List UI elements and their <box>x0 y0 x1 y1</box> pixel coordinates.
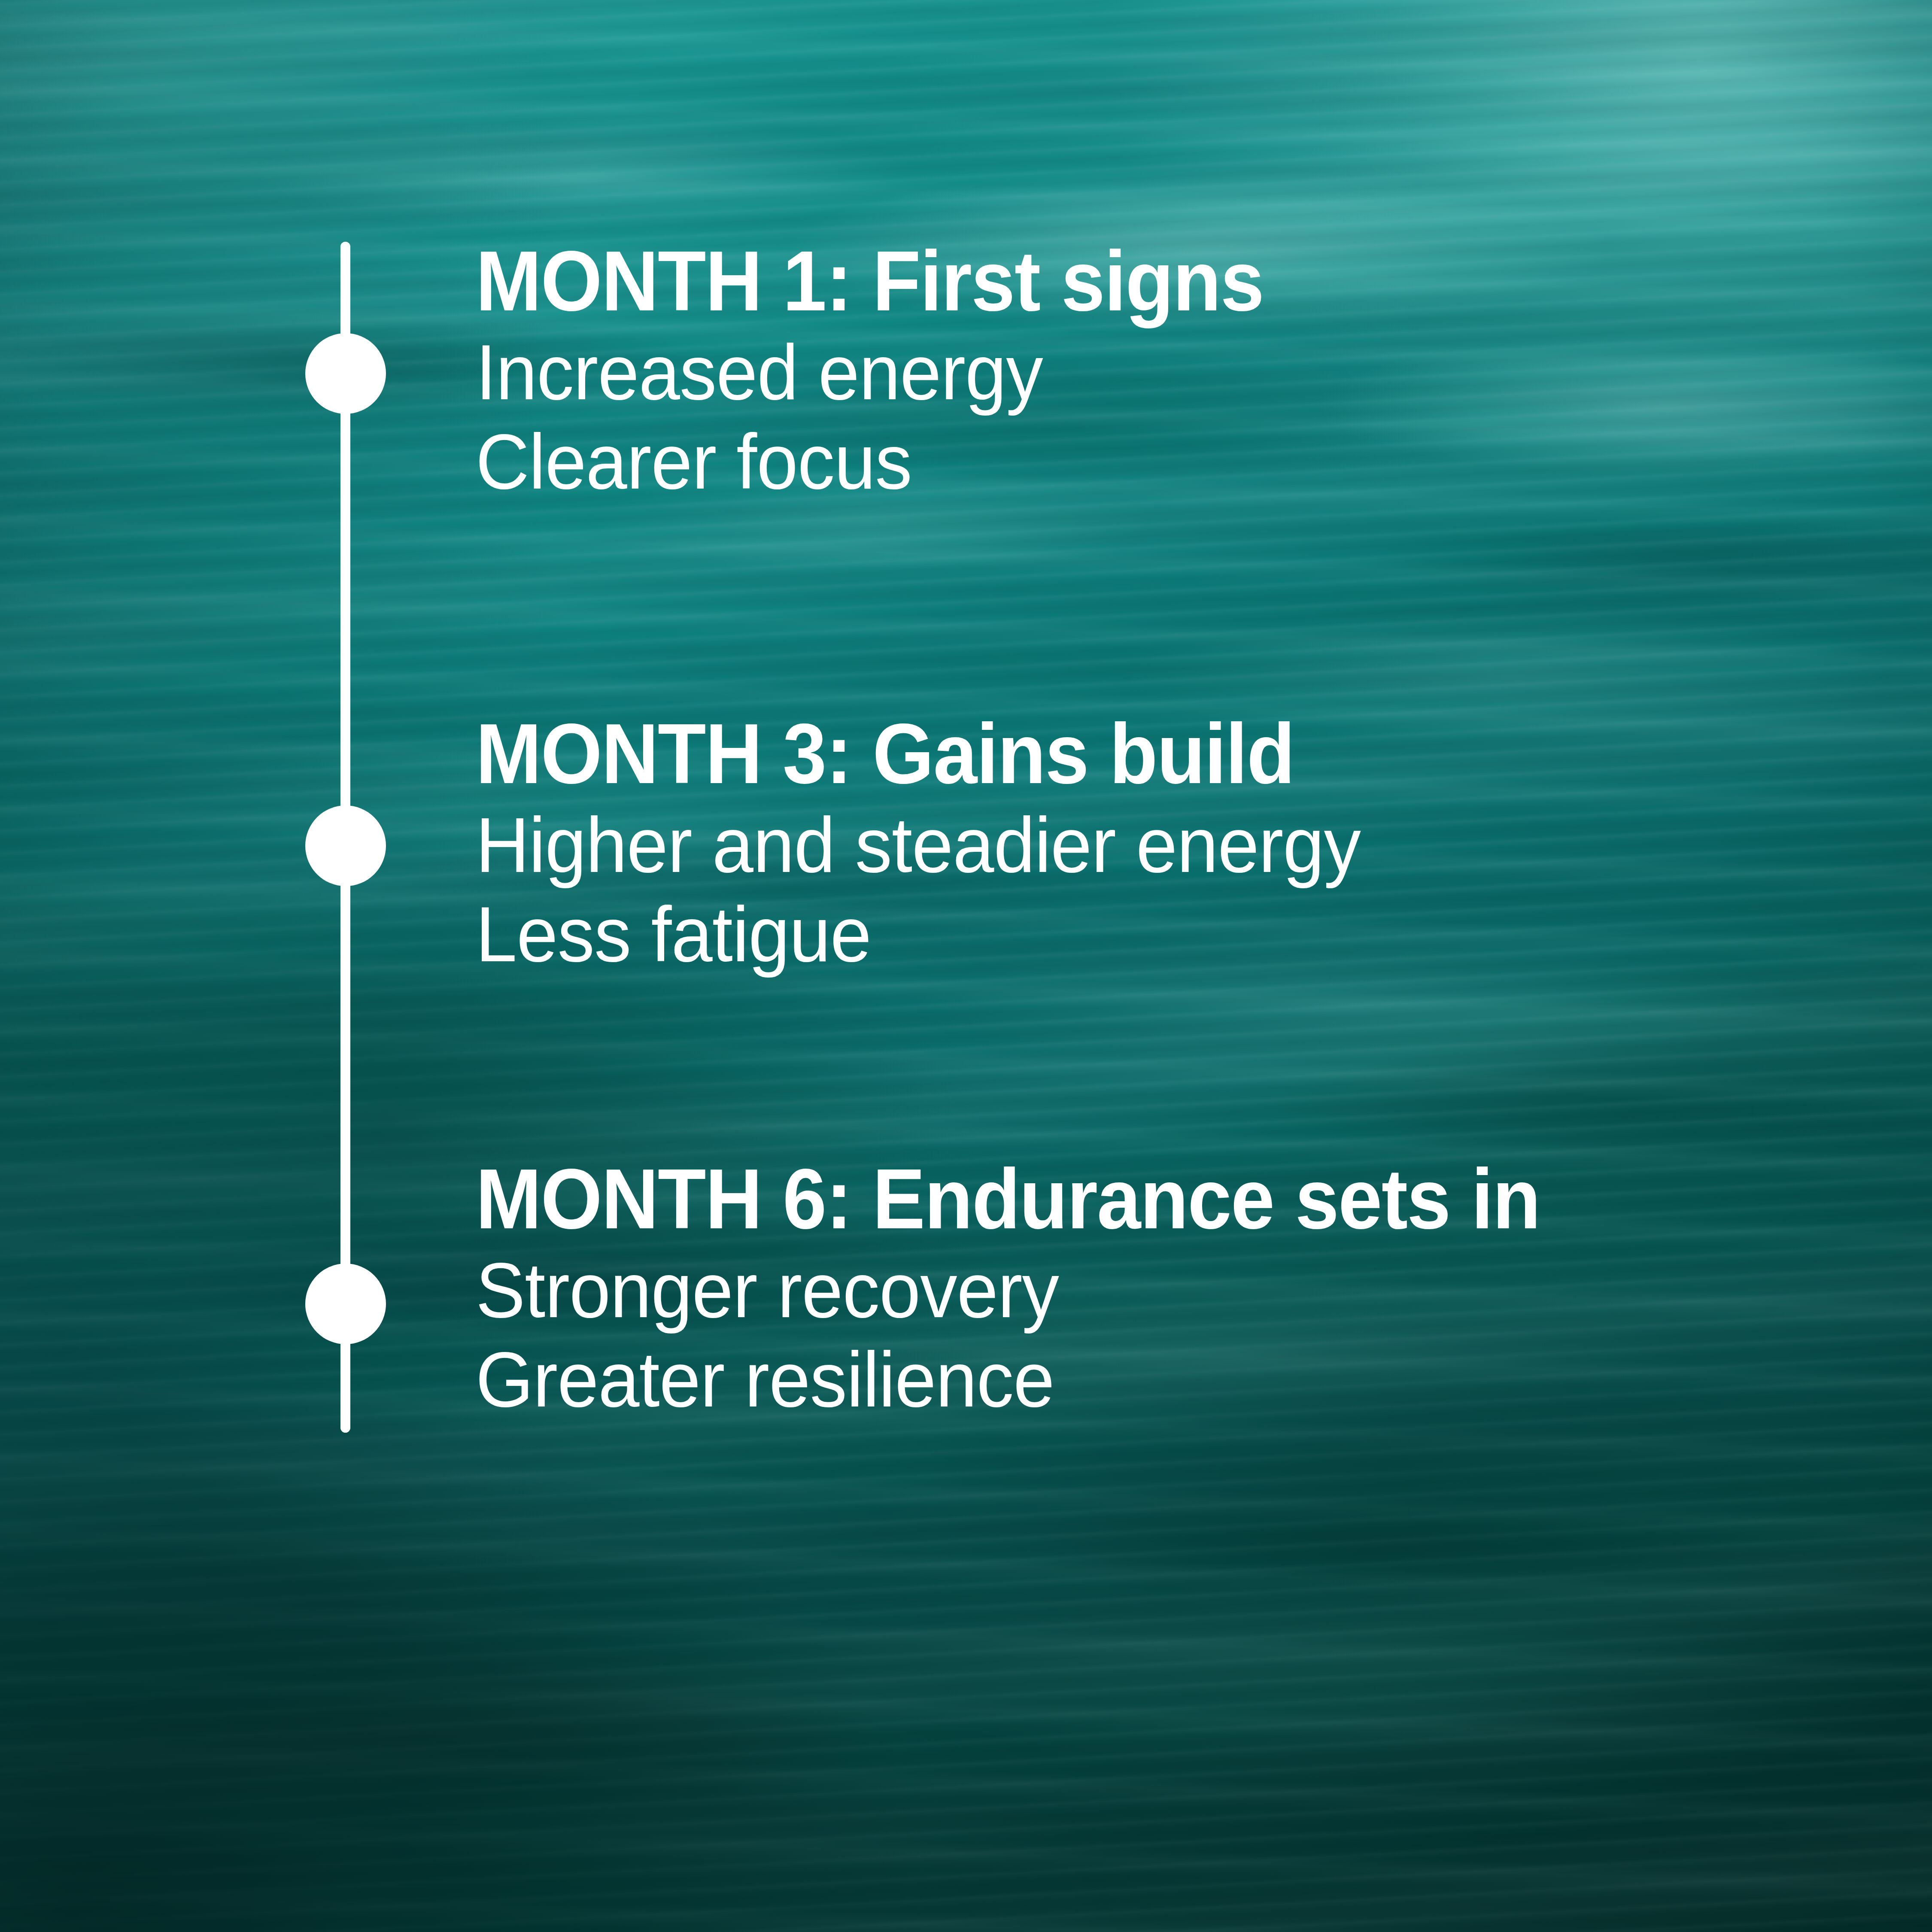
milestone-title: MONTH 6: Endurance sets in <box>476 1158 1540 1240</box>
timeline-graphic: MONTH 1: First signs Increased energy Cl… <box>0 0 1932 1932</box>
milestone-marker-month-6 <box>305 1264 386 1344</box>
milestone-detail-line: Clearer focus <box>476 417 1281 506</box>
milestone-detail-line: Higher and steadier energy <box>476 800 1361 890</box>
milestone-block-month-3: MONTH 3: Gains build Higher and steadier… <box>476 713 1407 979</box>
milestone-marker-month-3 <box>305 805 386 886</box>
milestone-detail-line: Stronger recovery <box>476 1245 1563 1335</box>
milestone-block-month-1: MONTH 1: First signs Increased energy Cl… <box>476 240 1323 507</box>
milestone-marker-month-1 <box>305 333 386 414</box>
milestone-detail-line: Less fatigue <box>476 890 1361 979</box>
milestone-title: MONTH 3: Gains build <box>476 713 1342 795</box>
milestone-block-month-6: MONTH 6: Endurance sets in Stronger reco… <box>476 1158 1620 1425</box>
milestone-title: MONTH 1: First signs <box>476 240 1264 322</box>
milestone-detail-line: Increased energy <box>476 328 1281 417</box>
milestone-detail-line: Greater resilience <box>476 1335 1563 1424</box>
